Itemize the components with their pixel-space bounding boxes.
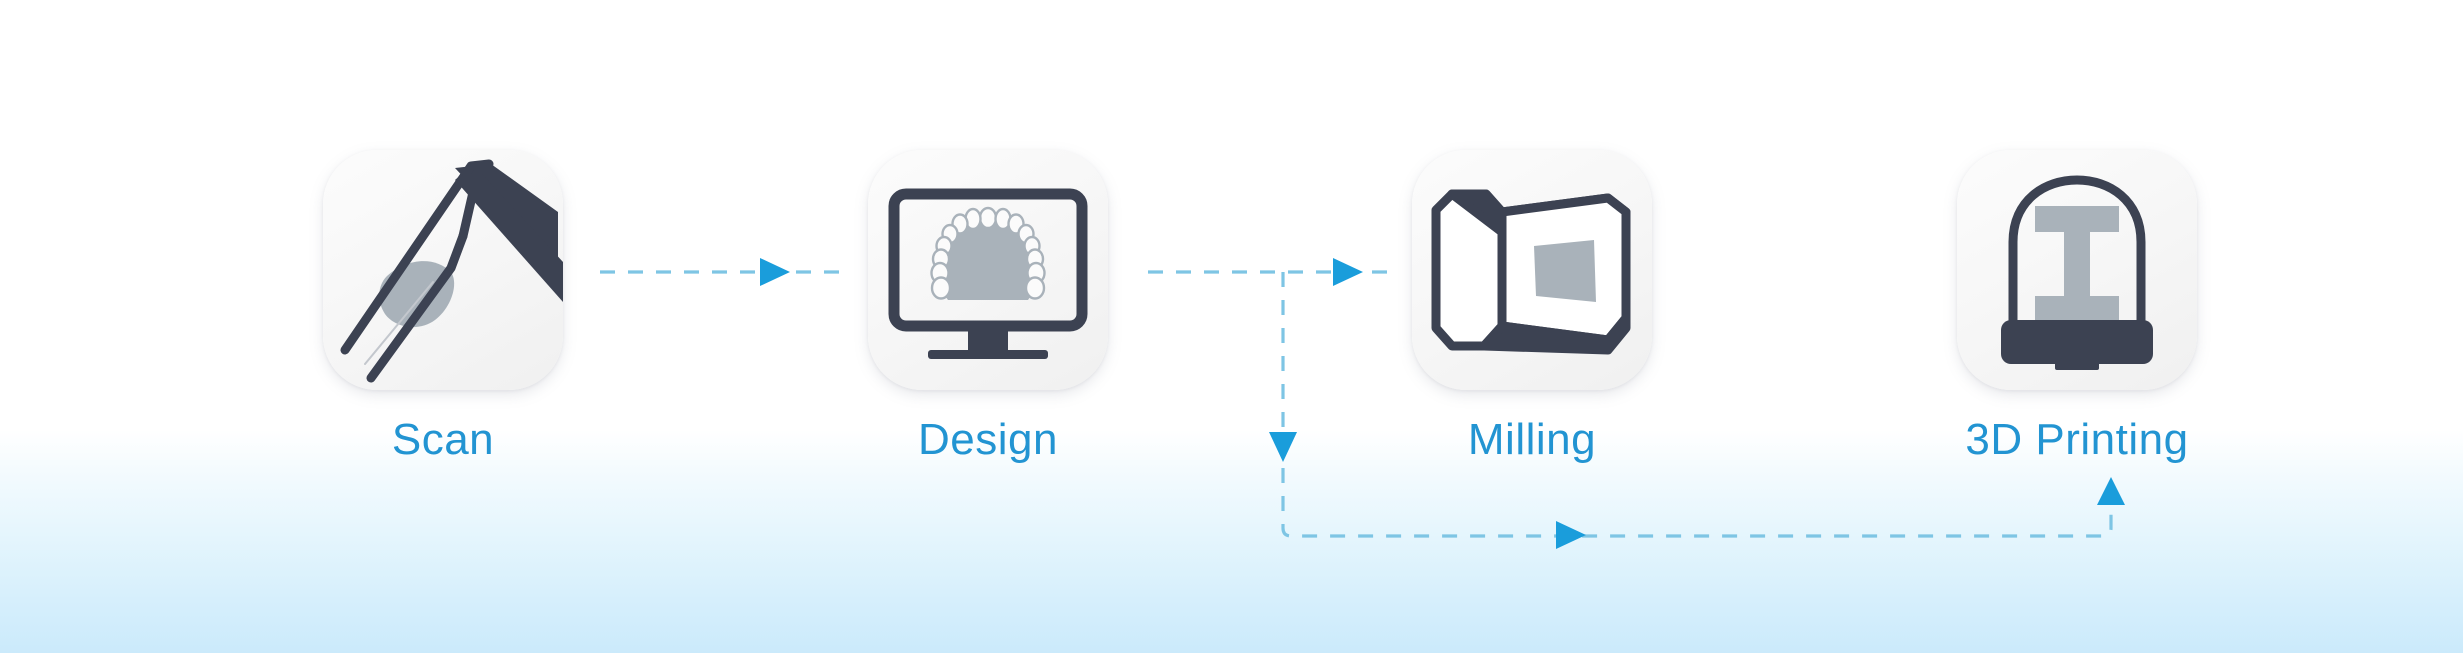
step-milling[interactable]: Milling: [1402, 150, 1662, 462]
step-scan[interactable]: Scan: [313, 150, 573, 462]
intraoral-scanner-icon: [323, 150, 563, 390]
step-label-milling: Milling: [1468, 418, 1596, 462]
step-label-printing: 3D Printing: [1965, 418, 2188, 462]
milling-tile[interactable]: [1412, 150, 1652, 390]
arrowhead-right-icon: [1556, 521, 1586, 549]
workflow-diagram: .dash { stroke: #7ec5e4; stroke-width: 3…: [0, 0, 2463, 653]
monitor-dental-arch-icon: [868, 150, 1108, 390]
step-label-design: Design: [918, 418, 1058, 462]
connector-scan-to-design: [600, 258, 840, 286]
3d-printer-icon: [1957, 150, 2197, 390]
step-printing[interactable]: 3D Printing: [1947, 150, 2207, 462]
arrowhead-down-icon: [1269, 432, 1297, 462]
step-design[interactable]: Design: [858, 150, 1118, 462]
arrowhead-right-icon: [1333, 258, 1363, 286]
connector-design-to-milling: [1148, 258, 1400, 286]
step-label-scan: Scan: [392, 418, 494, 462]
arrowhead-right-icon: [760, 258, 790, 286]
scan-tile[interactable]: [323, 150, 563, 390]
printing-tile[interactable]: [1957, 150, 2197, 390]
milling-machine-icon: [1412, 150, 1652, 390]
design-tile[interactable]: [868, 150, 1108, 390]
arrowhead-up-icon: [2097, 477, 2125, 505]
